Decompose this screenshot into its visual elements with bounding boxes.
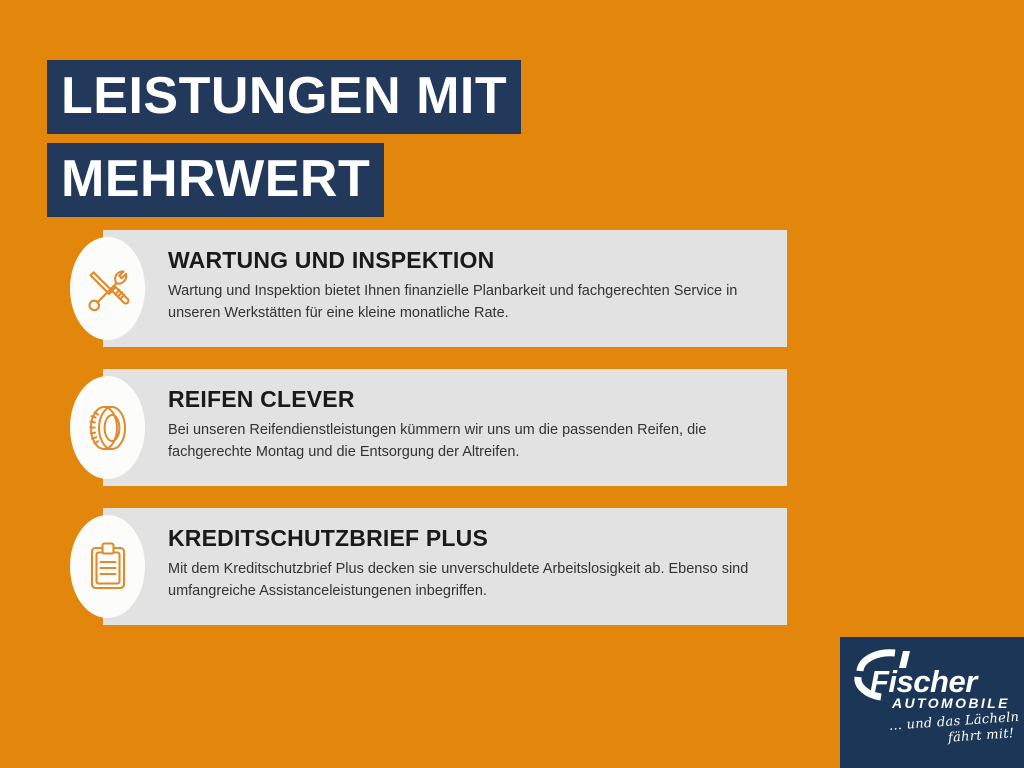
services-list: WARTUNG UND INSPEKTION Wartung und Inspe… bbox=[0, 230, 1024, 647]
card-title: WARTUNG UND INSPEKTION bbox=[168, 248, 768, 273]
tire-icon bbox=[70, 376, 145, 479]
card-title: REIFEN CLEVER bbox=[168, 387, 768, 412]
wrench-screwdriver-icon bbox=[70, 237, 145, 340]
svg-text:Fischer: Fischer bbox=[870, 664, 979, 699]
page-title-line-2: MEHRWERT bbox=[47, 143, 384, 217]
page-title: LEISTUNGEN MIT MEHRWERT bbox=[47, 60, 747, 226]
logo-wordmark: Fischer AUTOMOBILE bbox=[848, 643, 1018, 713]
card-title: KREDITSCHUTZBRIEF PLUS bbox=[168, 526, 768, 551]
card-description: Bei unseren Reifendienstleistungen kümme… bbox=[168, 420, 763, 463]
card-body: REIFEN CLEVER Bei unseren Reifendienstle… bbox=[168, 387, 768, 463]
logo-tagline: ... und das Lächeln fährt mit! bbox=[869, 710, 1021, 753]
card-body: KREDITSCHUTZBRIEF PLUS Mit dem Kreditsch… bbox=[168, 526, 768, 602]
service-card-kreditschutzbrief-plus[interactable]: KREDITSCHUTZBRIEF PLUS Mit dem Kreditsch… bbox=[0, 508, 1024, 625]
clipboard-icon bbox=[70, 515, 145, 618]
card-body: WARTUNG UND INSPEKTION Wartung und Inspe… bbox=[168, 248, 768, 324]
service-card-reifen-clever[interactable]: REIFEN CLEVER Bei unseren Reifendienstle… bbox=[0, 369, 1024, 486]
card-description: Wartung und Inspektion bietet Ihnen fina… bbox=[168, 281, 763, 324]
svg-text:AUTOMOBILE: AUTOMOBILE bbox=[891, 695, 1010, 711]
page-title-line-1: LEISTUNGEN MIT bbox=[47, 60, 521, 134]
service-card-wartung-und-inspektion[interactable]: WARTUNG UND INSPEKTION Wartung und Inspe… bbox=[0, 230, 1024, 347]
card-description: Mit dem Kreditschutzbrief Plus decken si… bbox=[168, 559, 763, 602]
fischer-automobile-logo: Fischer AUTOMOBILE ... und das Lächeln f… bbox=[840, 637, 1024, 768]
